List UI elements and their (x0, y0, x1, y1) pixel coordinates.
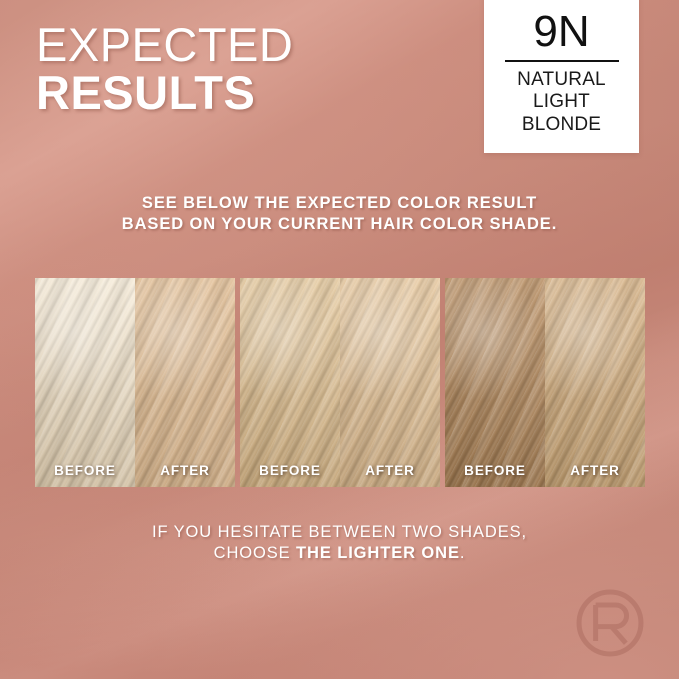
shade-name-line-3: BLONDE (517, 114, 606, 137)
comparison-pair-3: BEFORE AFTER (445, 278, 645, 487)
footer-note: IF YOU HESITATE BETWEEN TWO SHADES, CHOO… (0, 522, 679, 564)
pair-2-after-label: AFTER (340, 463, 440, 478)
shade-name: NATURAL LIGHT BLONDE (517, 69, 606, 137)
footer-note-line-2: CHOOSE THE LIGHTER ONE. (0, 543, 679, 564)
pair-3-after-sheen (545, 278, 645, 487)
shade-code: 9N (533, 10, 589, 55)
comparison-pair-2: BEFORE AFTER (240, 278, 440, 487)
pair-1-after-sheen (135, 278, 235, 487)
pair-3-after-label: AFTER (545, 463, 645, 478)
pair-2-before-label: BEFORE (240, 463, 340, 478)
pair-3-before-swatch: BEFORE (445, 278, 545, 487)
pair-2-before-sheen (240, 278, 340, 487)
pair-1-after-label: AFTER (135, 463, 235, 478)
pair-1-before-sheen (35, 278, 135, 487)
pair-3-after-swatch: AFTER (545, 278, 645, 487)
footer-note-line-1: IF YOU HESITATE BETWEEN TWO SHADES, (0, 522, 679, 543)
page-title: EXPECTED RESULTS (36, 22, 293, 115)
footer-note-suffix: . (460, 544, 465, 562)
subheading: SEE BELOW THE EXPECTED COLOR RESULT BASE… (0, 193, 679, 235)
subheading-line-1: SEE BELOW THE EXPECTED COLOR RESULT (0, 193, 679, 214)
shade-name-line-1: NATURAL (517, 69, 606, 92)
shade-name-line-2: LIGHT (517, 91, 606, 114)
page-title-line-1: EXPECTED (36, 22, 293, 68)
pair-3-before-sheen (445, 278, 545, 487)
pair-1-after-swatch: AFTER (135, 278, 235, 487)
expected-results-card: EXPECTED RESULTS 9N NATURAL LIGHT BLONDE… (0, 0, 679, 679)
pair-1-before-swatch: BEFORE (35, 278, 135, 487)
before-after-comparison: BEFORE AFTER BEFORE AFTER BEFORE (35, 278, 645, 487)
shade-badge: 9N NATURAL LIGHT BLONDE (484, 0, 639, 153)
pair-2-after-swatch: AFTER (340, 278, 440, 487)
subheading-line-2: BASED ON YOUR CURRENT HAIR COLOR SHADE. (0, 214, 679, 235)
loreal-circle-r-logo-icon (574, 587, 646, 659)
page-title-line-2: RESULTS (36, 70, 293, 116)
pair-2-before-swatch: BEFORE (240, 278, 340, 487)
footer-note-emphasis: THE LIGHTER ONE (296, 544, 460, 562)
pair-1-before-label: BEFORE (35, 463, 135, 478)
comparison-pair-1: BEFORE AFTER (35, 278, 235, 487)
pair-2-after-sheen (340, 278, 440, 487)
shade-divider (505, 60, 619, 62)
footer-note-prefix: CHOOSE (214, 544, 296, 562)
pair-3-before-label: BEFORE (445, 463, 545, 478)
